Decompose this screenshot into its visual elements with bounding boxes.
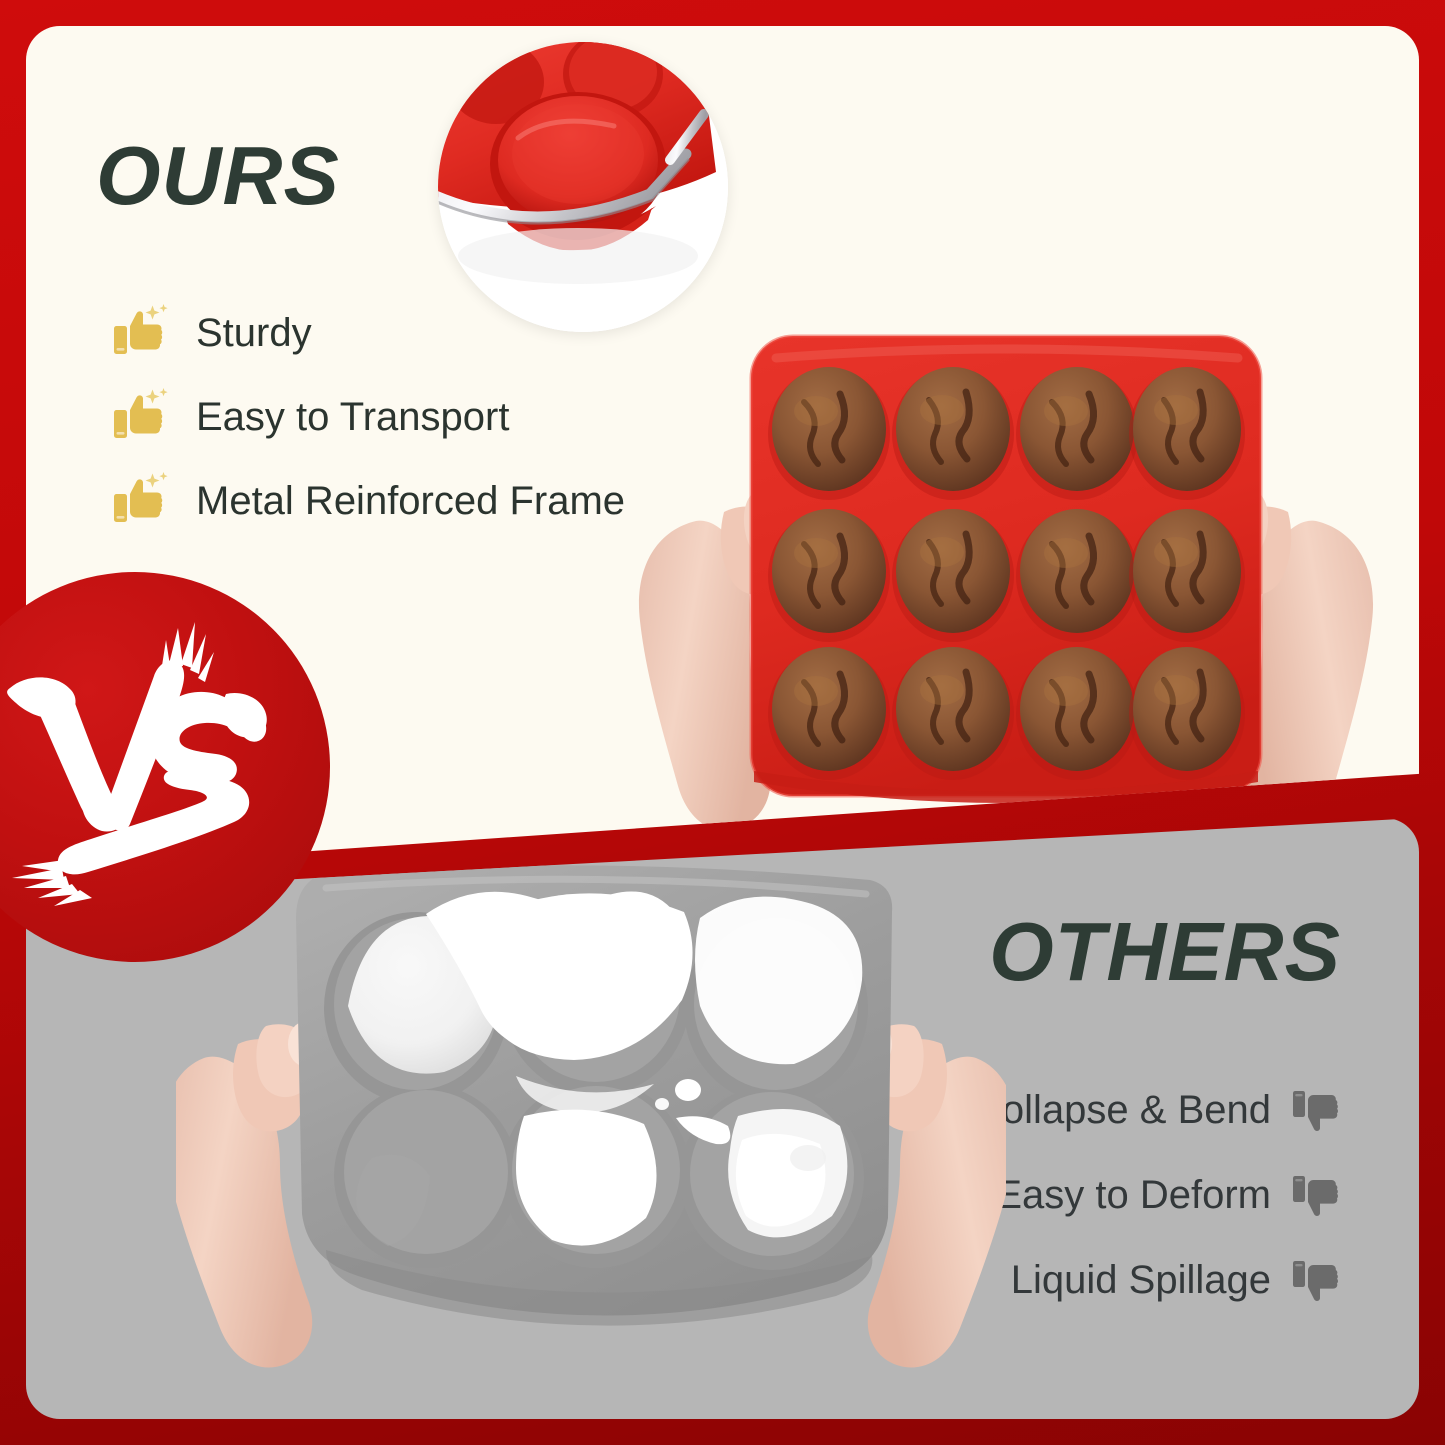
comparison-infographic: OURS Sturdy [0, 0, 1445, 1445]
thumbs-up-icon [112, 302, 174, 364]
vs-brush-icon [0, 572, 330, 962]
ours-heading: OURS [96, 134, 340, 217]
others-drawback-label: Liquid Spillage [1011, 1258, 1271, 1303]
thumbs-down-icon [1291, 1168, 1347, 1224]
vs-badge [0, 572, 330, 962]
ours-feature-label: Easy to Transport [196, 395, 509, 440]
ours-feature-label: Sturdy [196, 311, 312, 356]
ours-product-image [626, 316, 1386, 871]
ours-closeup-inset-image [438, 42, 728, 332]
ours-feature-label: Metal Reinforced Frame [196, 479, 625, 524]
thumbs-down-icon [1291, 1253, 1347, 1309]
thumbs-down-icon [1291, 1083, 1347, 1139]
thumbs-up-icon [112, 386, 174, 448]
others-drawback-label: Easy to Deform [995, 1173, 1271, 1218]
thumbs-up-icon [112, 470, 174, 532]
others-heading: OTHERS [989, 910, 1341, 993]
others-drawback-label: Collapse & Bend [973, 1088, 1271, 1133]
